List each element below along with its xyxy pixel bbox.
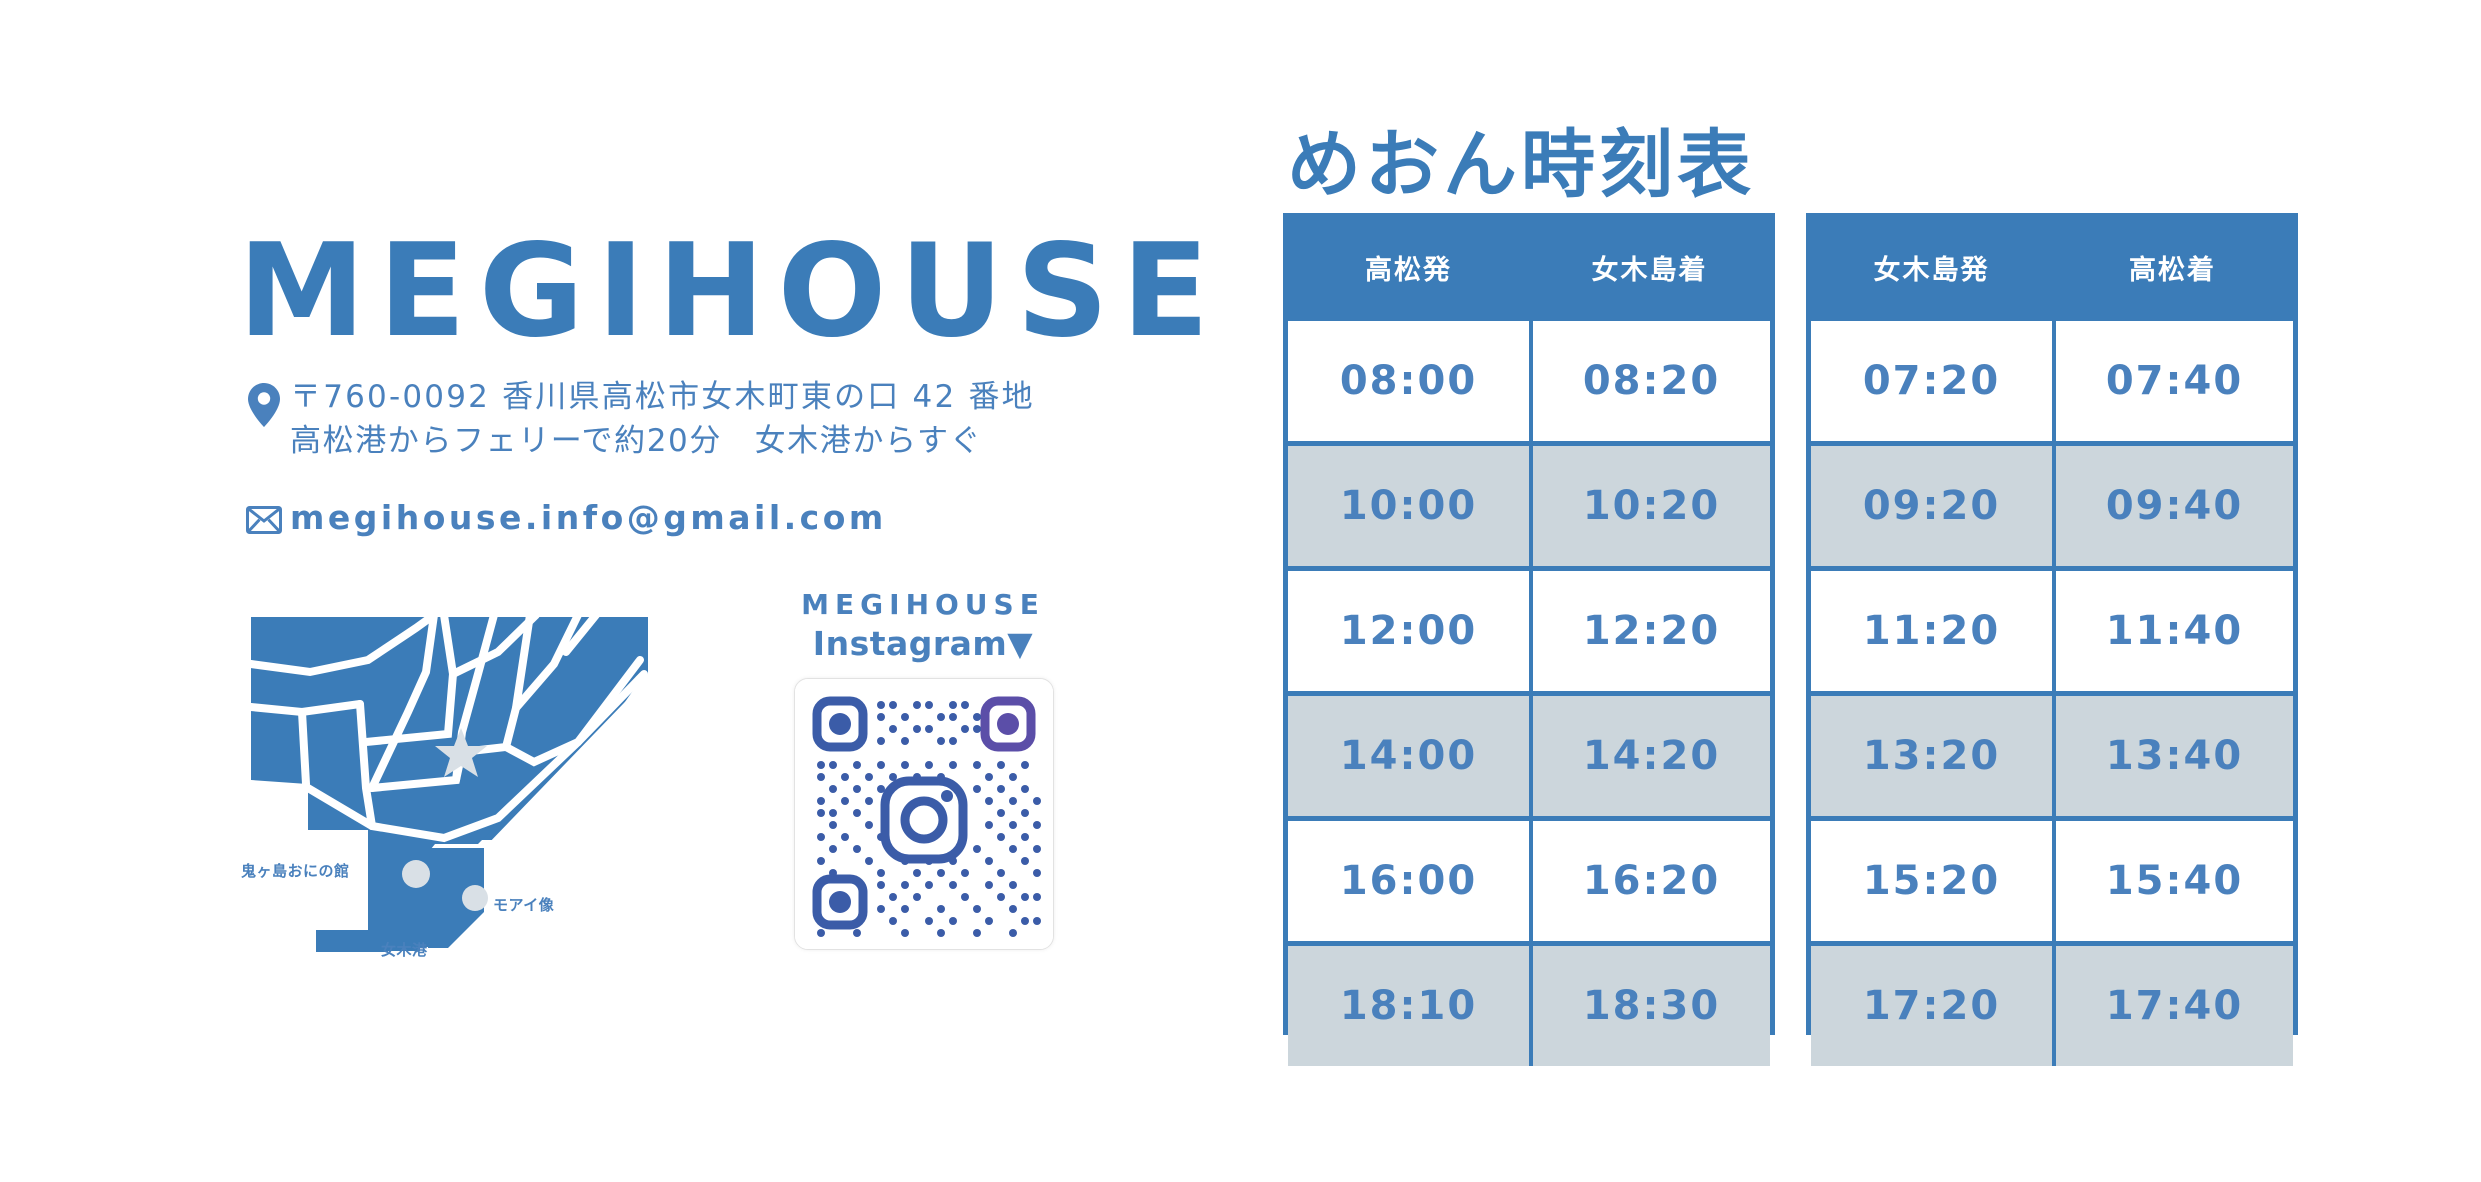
table-row: 11:20 11:40 — [1811, 566, 2293, 691]
address-line-2: 高松港からフェリーで約20分 女木港からすぐ — [290, 422, 1035, 461]
cell-arrival: 14:20 — [1529, 691, 1770, 816]
table-row: 15:20 15:40 — [1811, 816, 2293, 941]
cell-departure: 10:00 — [1288, 441, 1529, 566]
timetable-inbound: 女木島発 高松着 07:20 07:40 09:20 09:40 11:20 — [1806, 213, 2298, 1035]
table-row: 14:00 14:20 — [1288, 691, 1770, 816]
table-row: 17:20 17:40 — [1811, 941, 2293, 1066]
cell-arrival: 12:20 — [1529, 566, 1770, 691]
cell-departure: 16:00 — [1288, 816, 1529, 941]
instagram-caption: MEGIHOUSE Instagram▼ — [778, 588, 1068, 663]
map-pin-icon — [238, 378, 290, 428]
cell-departure: 18:10 — [1288, 941, 1529, 1066]
poster-root: MEGIHOUSE 〒760-0092 香川県高松市女木町東の口 42 番地 高… — [0, 0, 2481, 1182]
table-row: 09:20 09:40 — [1811, 441, 2293, 566]
table-row: 10:00 10:20 — [1288, 441, 1770, 566]
map-label-megi-port: 女木港 — [381, 939, 428, 960]
address-row: 〒760-0092 香川県高松市女木町東の口 42 番地 高松港からフェリーで約… — [238, 378, 1218, 462]
email-address[interactable]: megihouse.info@gmail.com — [290, 498, 887, 537]
instagram-caption-line-2: Instagram▼ — [778, 624, 1068, 663]
cell-arrival: 13:40 — [2052, 691, 2293, 816]
column-header-arrival: 女木島着 — [1529, 218, 1770, 316]
map-label-onino-yakata: 鬼ヶ島おにの館 — [241, 860, 350, 881]
cell-arrival: 11:40 — [2052, 566, 2293, 691]
instagram-caption-line-1: MEGIHOUSE — [778, 588, 1068, 621]
instagram-icon — [883, 779, 965, 861]
instagram-qr-block[interactable]: MEGIHOUSE Instagram▼ — [778, 588, 1068, 948]
instagram-qr-code[interactable] — [794, 678, 1054, 950]
poi-dot-onino — [402, 860, 430, 888]
address-line-1: 〒760-0092 香川県高松市女木町東の口 42 番地 — [290, 379, 1035, 415]
map-label-moai: モアイ像 — [493, 894, 554, 915]
column-header-departure: 女木島発 — [1811, 218, 2052, 316]
table-row: 08:00 08:20 — [1288, 316, 1770, 441]
cell-arrival: 15:40 — [2052, 816, 2293, 941]
address-text: 〒760-0092 香川県高松市女木町東の口 42 番地 高松港からフェリーで約… — [290, 378, 1035, 462]
email-row[interactable]: megihouse.info@gmail.com — [238, 498, 1218, 537]
timetable-outbound: 高松発 女木島着 08:00 08:20 10:00 10:20 12:00 — [1283, 213, 1775, 1035]
cell-departure: 11:20 — [1811, 566, 2052, 691]
cell-arrival: 16:20 — [1529, 816, 1770, 941]
location-map: 鬼ヶ島おにの館 モアイ像 女木港 — [248, 612, 648, 952]
cell-arrival: 18:30 — [1529, 941, 1770, 1066]
cell-departure: 09:20 — [1811, 441, 2052, 566]
cell-arrival: 10:20 — [1529, 441, 1770, 566]
cell-departure: 15:20 — [1811, 816, 2052, 941]
info-panel: MEGIHOUSE 〒760-0092 香川県高松市女木町東の口 42 番地 高… — [0, 0, 1240, 1182]
timetable-title: めおん時刻表 — [1287, 128, 1755, 202]
contact-block: 〒760-0092 香川県高松市女木町東の口 42 番地 高松港からフェリーで約… — [238, 378, 1218, 537]
table-row: 18:10 18:30 — [1288, 941, 1770, 1066]
table-row: 07:20 07:40 — [1811, 316, 2293, 441]
cell-arrival: 08:20 — [1529, 316, 1770, 441]
table-row: 12:00 12:20 — [1288, 566, 1770, 691]
poi-dot-moai — [462, 885, 488, 911]
cell-departure: 17:20 — [1811, 941, 2052, 1066]
cell-departure: 07:20 — [1811, 316, 2052, 441]
cell-arrival: 09:40 — [2052, 441, 2293, 566]
envelope-icon — [238, 498, 290, 534]
column-header-arrival: 高松着 — [2052, 218, 2293, 316]
column-header-departure: 高松発 — [1288, 218, 1529, 316]
table-header-row: 女木島発 高松着 — [1811, 218, 2293, 316]
table-row: 13:20 13:40 — [1811, 691, 2293, 816]
cell-departure: 13:20 — [1811, 691, 2052, 816]
brand-logo: MEGIHOUSE — [238, 228, 1222, 356]
cell-arrival: 17:40 — [2052, 941, 2293, 1066]
cell-arrival: 07:40 — [2052, 316, 2293, 441]
cell-departure: 12:00 — [1288, 566, 1529, 691]
cell-departure: 08:00 — [1288, 316, 1529, 441]
table-header-row: 高松発 女木島着 — [1288, 218, 1770, 316]
cell-departure: 14:00 — [1288, 691, 1529, 816]
table-row: 16:00 16:20 — [1288, 816, 1770, 941]
